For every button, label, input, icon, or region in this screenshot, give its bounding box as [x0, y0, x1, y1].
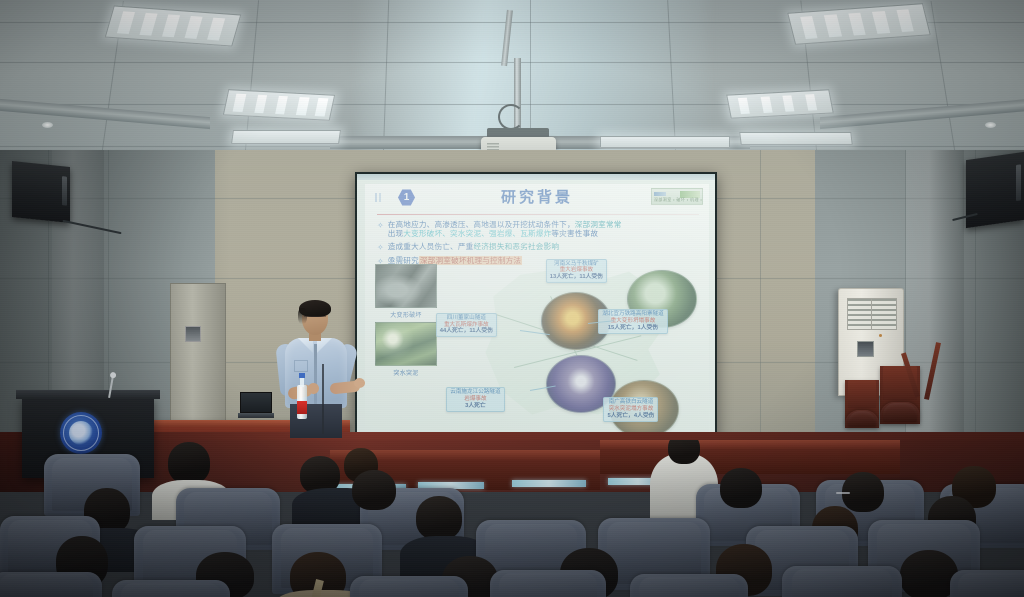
- water-bottle[interactable]: [297, 373, 307, 419]
- bullet-text-part: 等灾害性事故: [551, 229, 598, 238]
- audience-area: [0, 440, 1024, 597]
- photo-rock-deformation: [375, 264, 437, 308]
- bullet-text-part: 造成重大人员伤亡、严重: [388, 242, 474, 251]
- callout-casualties: 44人死亡，11人受伤: [440, 328, 493, 335]
- map-callout: 四川董家山隧道 重大瓦斯爆炸事故 44人死亡，11人受伤: [436, 313, 497, 338]
- wall-speaker-right: [966, 152, 1024, 228]
- slide-corner-logo-text: 深部洞室 • 破坏 • 机理 • 控制: [654, 197, 703, 203]
- wall-cabinet: [170, 283, 226, 433]
- china-map: 河南义马千秋煤矿 重大岩爆事故 13人死亡，11人受伤 四川董家山隧道 重大瓦斯…: [441, 262, 703, 431]
- photo-caption: 突水突泥: [375, 368, 437, 377]
- projector-cable: [498, 104, 524, 130]
- auditorium-seat[interactable]: [112, 580, 230, 597]
- logo-bar-icon: [654, 192, 666, 196]
- microphone-stand: [322, 364, 324, 434]
- screen-top-bar: [357, 174, 715, 180]
- photo-caption: 大变形破坏: [375, 310, 437, 319]
- presenter-right-hand: [354, 378, 365, 388]
- callout-site: 云南施龙江公路隧道: [450, 389, 500, 396]
- lecture-hall-photo: EPSON: [0, 0, 1024, 597]
- callout-casualties: 13人死亡，11人受伤: [550, 274, 603, 281]
- map-callout: 河南义马千秋煤矿 重大岩爆事故 13人死亡，11人受伤: [546, 259, 607, 284]
- attendee-head: [668, 440, 700, 464]
- slide-corner-logo: 深部洞室 • 破坏 • 机理 • 控制: [651, 188, 703, 205]
- slide-header: 1 研究背景 深部洞室 • 破坏 • 机理 • 控制: [365, 184, 709, 212]
- desk-monitor-glow: [512, 480, 586, 487]
- ceiling-downlight: [985, 122, 996, 128]
- auditorium-seat[interactable]: [782, 566, 902, 597]
- air-conditioner-grille: [847, 298, 897, 330]
- bullet-text-emphasis: 经济损失和恶劣社会影响: [473, 242, 559, 251]
- auditorium-seat[interactable]: [490, 570, 606, 597]
- projection-screen: 1 研究背景 深部洞室 • 破坏 • 机理 • 控制 ✧ 在高地应力、高渗透压、…: [357, 174, 715, 441]
- presenter: [268, 298, 364, 438]
- bottle-cap: [299, 373, 305, 378]
- air-conditioner-indicator: [879, 334, 882, 337]
- podium-top: [16, 390, 160, 399]
- ceiling-light-fixture: [787, 3, 931, 45]
- attendee-head: [416, 496, 462, 540]
- slide-bullet: ✧ 在高地应力、高渗透压、高地温以及开挖扰动条件下，深部洞室常常 出现大变形破坏…: [377, 220, 701, 239]
- ceiling-light-fixture: [726, 89, 834, 118]
- callout-site: 四川董家山隧道: [440, 315, 493, 322]
- attendee-head: [168, 442, 210, 484]
- map-callout: 南广高铁白云隧道 突水突泥塌方事故 5人死亡，4人受伤: [603, 397, 658, 422]
- slide-title-rule: [377, 214, 699, 215]
- callout-casualties: 3人死亡: [450, 403, 500, 410]
- bullet-text-emphasis: 大变形破坏、突水突泥、强岩爆、瓦斯爆炸: [403, 229, 551, 238]
- wall-speaker-left: [12, 161, 70, 223]
- auditorium-seat[interactable]: [630, 574, 748, 597]
- ceiling-light-fixture: [231, 130, 341, 144]
- air-conditioner-display[interactable]: [857, 341, 874, 357]
- auditorium-seat[interactable]: [0, 572, 102, 597]
- presenter-glasses-icon: [304, 316, 326, 321]
- bullet-text-part: 在高地应力、高渗透压、高地温以及开挖扰动条件下，: [388, 220, 575, 229]
- cabinet-control-panel: [185, 326, 201, 342]
- presenter-shirt-placket: [314, 344, 317, 404]
- presentation-slide: 1 研究背景 深部洞室 • 破坏 • 机理 • 控制 ✧ 在高地应力、高渗透压、…: [365, 184, 709, 435]
- bullet-text: 在高地应力、高渗透压、高地温以及开挖扰动条件下，深部洞室常常 出现大变形破坏、突…: [388, 220, 622, 239]
- attendee-head: [352, 470, 396, 510]
- attendee-head: [720, 468, 762, 508]
- presenter-left-hand: [308, 383, 319, 394]
- callout-event: 突水突泥塌方事故: [607, 406, 654, 413]
- callout-event: 岩爆事故: [450, 396, 500, 403]
- callout-site: 南广高铁白云隧道: [607, 399, 654, 406]
- bullet-marker-icon: ✧: [377, 220, 384, 239]
- chair-seat: [880, 402, 920, 424]
- ceiling-light-fixture: [223, 89, 335, 121]
- slide-bullet: ✧ 造成重大人员伤亡、严重经济损失和恶劣社会影响: [377, 242, 701, 253]
- photo-water-inrush: [375, 322, 437, 366]
- bullet-marker-icon: ✧: [377, 242, 384, 253]
- auditorium-seat[interactable]: [350, 576, 468, 597]
- bullet-text: 造成重大人员伤亡、严重经济损失和恶劣社会影响: [388, 242, 559, 253]
- bottle-neck: [300, 377, 304, 387]
- bullet-text-part: 出现: [388, 229, 404, 238]
- slide-diagram: 大变形破坏 突水突泥: [375, 262, 703, 431]
- presenter-shirt-pocket: [294, 360, 308, 372]
- ceiling-downlight: [42, 122, 53, 128]
- ceiling-light-fixture: [105, 5, 242, 46]
- ceiling-light-fixture: [739, 132, 853, 145]
- wooden-chair[interactable]: [845, 380, 879, 428]
- ceiling-light-fixture: [600, 136, 730, 148]
- callout-casualties: 15人死亡，1人受伤: [602, 325, 664, 332]
- auditorium-seat[interactable]: [950, 570, 1024, 597]
- bottle-label: [297, 401, 307, 414]
- desk-top: [600, 440, 900, 449]
- map-callout: 云南施龙江公路隧道 岩爆事故 3人死亡: [446, 387, 504, 412]
- projection-screen-frame: 1 研究背景 深部洞室 • 破坏 • 机理 • 控制 ✧ 在高地应力、高渗透压、…: [355, 172, 717, 443]
- bullet-text-emphasis: 深部洞室常常: [575, 220, 622, 229]
- chair-seat: [845, 410, 879, 428]
- ceiling-grid-line: [0, 62, 1024, 63]
- air-conditioner-grille-divider: [871, 298, 872, 330]
- callout-casualties: 5人死亡，4人受伤: [607, 413, 654, 420]
- chair-back: [848, 380, 877, 408]
- attendee-glasses-icon: [836, 492, 850, 494]
